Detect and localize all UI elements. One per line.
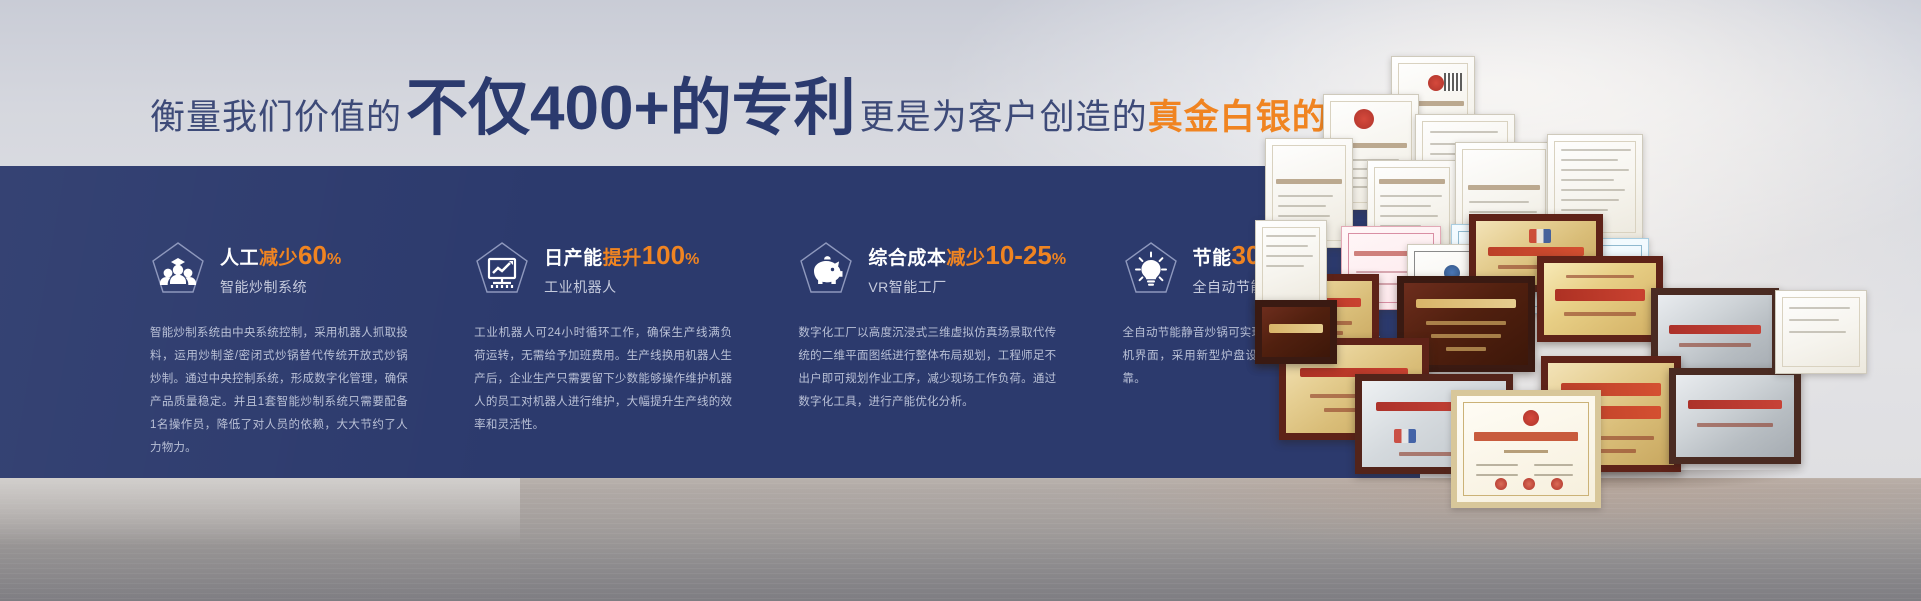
feature-header: 人工减少60% 智能炒制系统 <box>150 238 474 300</box>
feature-item-cost-reduction[interactable]: 综合成本减少10-25% VR智能工厂 数字化工厂以高度沉浸式三维虚拟仿真场景取… <box>798 166 1122 478</box>
feature-subtitle: VR智能工厂 <box>868 277 1066 297</box>
certificate-paper <box>1451 390 1601 508</box>
feature-header: 日产能提升100% 工业机器人 <box>474 238 798 300</box>
feature-titles: 日产能提升100% 工业机器人 <box>544 241 700 297</box>
chart-board-icon <box>474 240 530 298</box>
people-group-icon <box>150 240 206 298</box>
headline-mid: 更是为客户创造的 <box>860 89 1148 140</box>
feature-body: 智能炒制系统由中央系统控制，采用机器人抓取投料，运用炒制釜/密闭式炒锅替代传统开… <box>150 322 408 460</box>
certificate-paper <box>1775 290 1867 374</box>
feature-body: 工业机器人可24小时循环工作，确保生产线满负荷运转，无需给予加班费用。生产线换用… <box>474 322 732 437</box>
page-headline: 衡量我们价值的 不仅400+的专利 更是为客户创造的 真金白银的效益 <box>150 78 1400 142</box>
feature-subtitle: 智能炒制系统 <box>220 277 342 297</box>
certificate-plaque <box>1537 256 1663 342</box>
feature-header: 综合成本减少10-25% VR智能工厂 <box>798 238 1122 300</box>
certificate-stack <box>1255 38 1921 508</box>
headline-emphasis: 不仅400+的专利 <box>406 78 856 140</box>
certificate-paper <box>1255 220 1327 308</box>
floor-haze <box>0 478 520 601</box>
feature-item-labor-reduction[interactable]: 人工减少60% 智能炒制系统 智能炒制系统由中央系统控制，采用机器人抓取投料，运… <box>150 166 474 478</box>
certificate-plaque <box>1669 368 1801 464</box>
feature-subtitle: 工业机器人 <box>544 277 700 297</box>
feature-item-capacity-increase[interactable]: 日产能提升100% 工业机器人 工业机器人可24小时循环工作，确保生产线满负荷运… <box>474 166 798 478</box>
feature-titles: 综合成本减少10-25% VR智能工厂 <box>868 241 1066 297</box>
feature-titles: 人工减少60% 智能炒制系统 <box>220 241 342 297</box>
feature-body: 数字化工厂以高度沉浸式三维虚拟仿真场景取代传统的二维平面图纸进行整体布局规划，工… <box>798 322 1056 414</box>
feature-list: 人工减少60% 智能炒制系统 智能炒制系统由中央系统控制，采用机器人抓取投料，运… <box>150 166 1410 478</box>
lightbulb-icon <box>1123 240 1179 298</box>
certificate-plaque <box>1255 300 1337 364</box>
feature-title: 日产能提升100% <box>544 241 700 271</box>
piggy-bank-icon <box>798 240 854 298</box>
feature-title: 综合成本减少10-25% <box>868 241 1066 271</box>
feature-panel: 人工减少60% 智能炒制系统 智能炒制系统由中央系统控制，采用机器人抓取投料，运… <box>0 166 1420 478</box>
headline-lead: 衡量我们价值的 <box>150 89 402 140</box>
feature-title: 人工减少60% <box>220 241 342 271</box>
